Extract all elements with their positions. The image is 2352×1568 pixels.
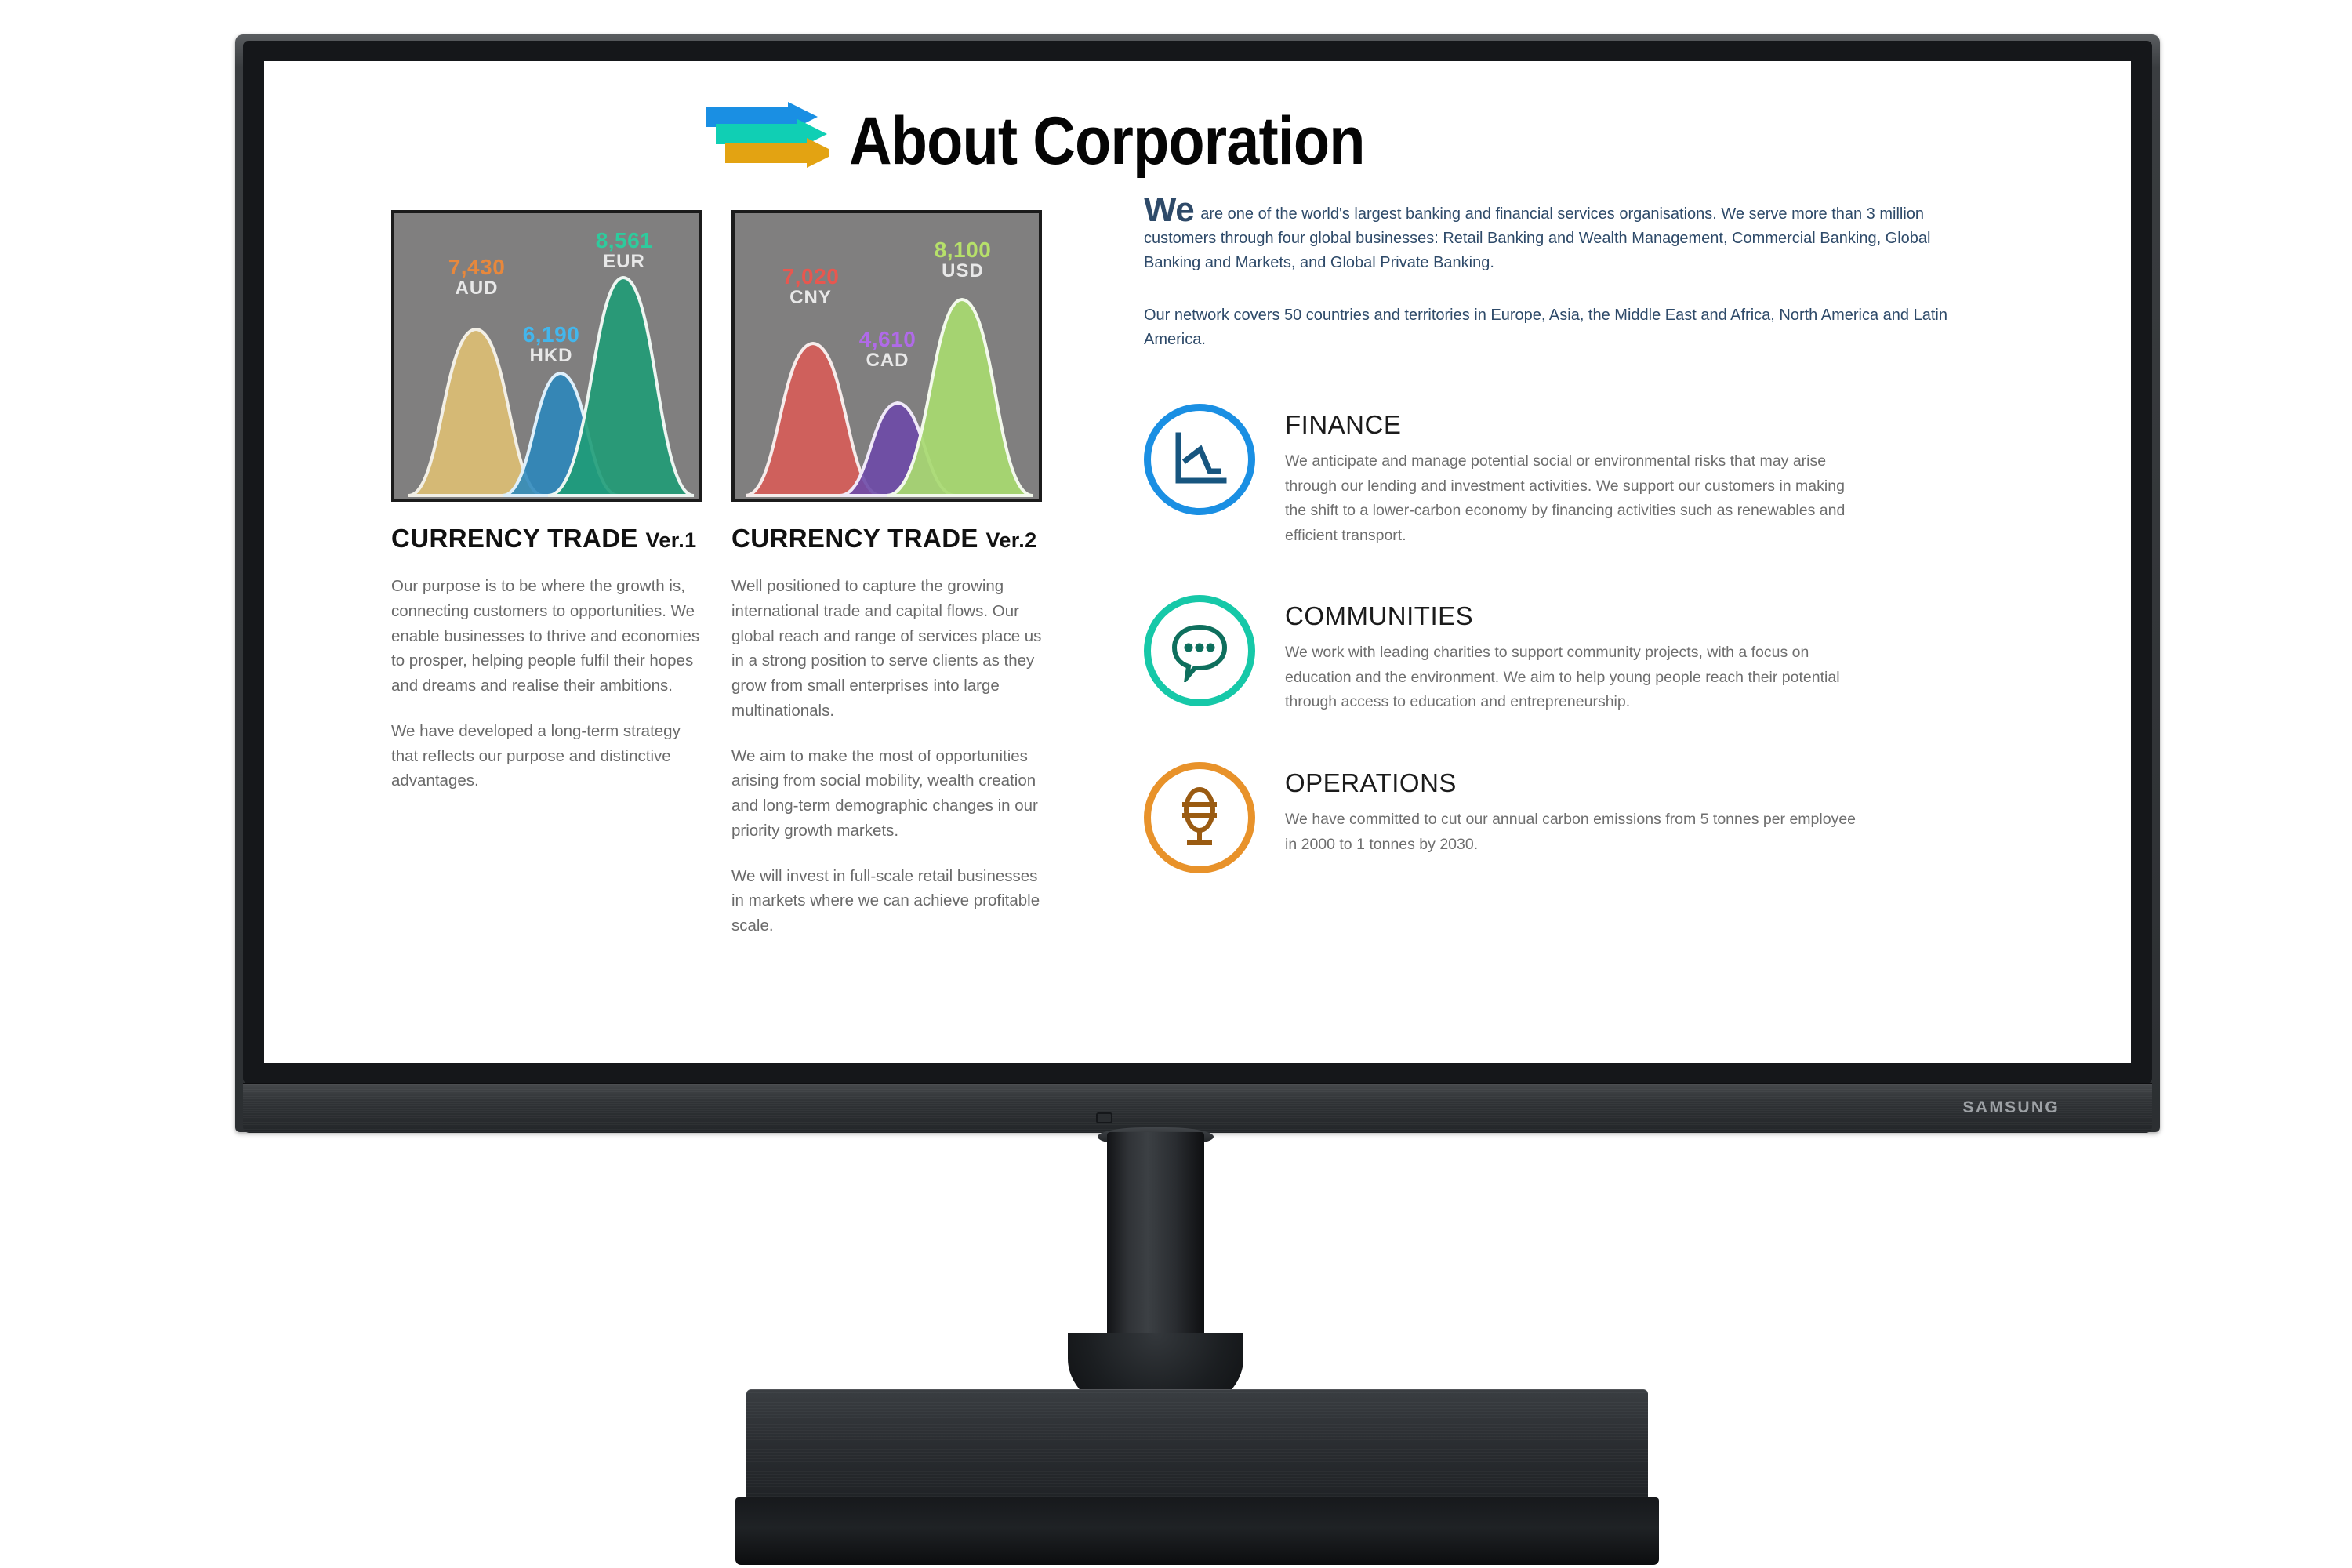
intro-lead-rest: are one of the world's largest banking a… (1144, 205, 1931, 271)
feature-finance: FINANCE We anticipate and manage potenti… (1144, 404, 1975, 548)
chart2-label-cny: 7,020 CNY (768, 265, 854, 308)
intro-text: Weare one of the world's largest banking… (1144, 194, 1975, 352)
feature-operations-heading: OPERATIONS (1285, 768, 1865, 798)
card-2-body: Well positioned to capture the growing i… (731, 574, 1042, 938)
chart1-label-aud: 7,430 AUD (434, 256, 520, 299)
stand-base-top (746, 1389, 1648, 1515)
chart-cards: 7,430 AUD 6,190 HKD 8,561 EUR (391, 210, 1042, 938)
feature-communities-text: COMMUNITIES We work with leading chariti… (1285, 595, 1865, 715)
line-chart-icon (1144, 404, 1255, 515)
chart-card-1: 7,430 AUD 6,190 HKD 8,561 EUR (391, 210, 702, 938)
card-2-title: CURRENCY TRADE Ver.2 (731, 524, 1042, 554)
feature-communities-body: We work with leading charities to suppor… (1285, 641, 1865, 715)
currency-chart-1: 7,430 AUD 6,190 HKD 8,561 EUR (391, 210, 702, 502)
chart-card-2: 7,020 CNY 4,610 CAD 8,100 USD (731, 210, 1042, 938)
stand-base-front (735, 1497, 1659, 1565)
screenshot-stage: About Corporation (0, 0, 2352, 1568)
feature-operations-text: OPERATIONS We have committed to cut our … (1285, 762, 1865, 857)
right-column: Weare one of the world's largest banking… (1144, 194, 1975, 873)
chart2-label-cad: 4,610 CAD (844, 328, 931, 371)
page-title: About Corporation (849, 107, 1365, 175)
feature-operations: OPERATIONS We have committed to cut our … (1144, 762, 1975, 873)
feature-finance-text: FINANCE We anticipate and manage potenti… (1285, 404, 1865, 548)
card-2-paragraph-1: Well positioned to capture the growing i… (731, 574, 1042, 724)
feature-finance-heading: FINANCE (1285, 410, 1865, 440)
feature-list: FINANCE We anticipate and manage potenti… (1144, 404, 1975, 873)
three-arrows-logo-icon (703, 102, 829, 180)
speech-bubble-icon (1144, 595, 1255, 706)
card-1-paragraph-2: We have developed a long-term strategy t… (391, 719, 702, 793)
feature-finance-body: We anticipate and manage potential socia… (1285, 449, 1865, 548)
presentation-slide: About Corporation (264, 61, 2131, 1063)
card-1-title: CURRENCY TRADE Ver.1 (391, 524, 702, 554)
stand-base-texture (746, 1389, 1648, 1515)
currency-chart-2: 7,020 CNY 4,610 CAD 8,100 USD (731, 210, 1042, 502)
power-indicator-icon (1096, 1112, 1112, 1123)
card-1-paragraph-1: Our purpose is to be where the growth is… (391, 574, 702, 699)
samsung-brand-logo: SAMSUNG (1963, 1098, 2060, 1117)
bezel-texture (243, 1084, 2152, 1133)
chart1-label-eur: 8,561 EUR (581, 229, 667, 272)
chart2-label-usd: 8,100 USD (920, 238, 1006, 281)
monitor-screen: About Corporation (264, 61, 2131, 1063)
card-2-paragraph-3: We will invest in full-scale retail busi… (731, 864, 1042, 938)
intro-paragraph-2: Our network covers 50 countries and terr… (1144, 303, 1975, 352)
monitor-bottom-bezel: SAMSUNG (243, 1083, 2152, 1133)
intro-lead-word: We (1144, 191, 1194, 229)
card-2-paragraph-2: We aim to make the most of opportunities… (731, 744, 1042, 844)
card-1-body: Our purpose is to be where the growth is… (391, 574, 702, 793)
chart1-label-hkd: 6,190 HKD (508, 323, 594, 366)
microphone-icon (1144, 762, 1255, 873)
slide-header: About Corporation (703, 102, 1435, 180)
feature-operations-body: We have committed to cut our annual carb… (1285, 808, 1865, 857)
feature-communities: COMMUNITIES We work with leading chariti… (1144, 595, 1975, 715)
feature-communities-heading: COMMUNITIES (1285, 601, 1865, 631)
intro-paragraph-1: Weare one of the world's largest banking… (1144, 194, 1975, 275)
